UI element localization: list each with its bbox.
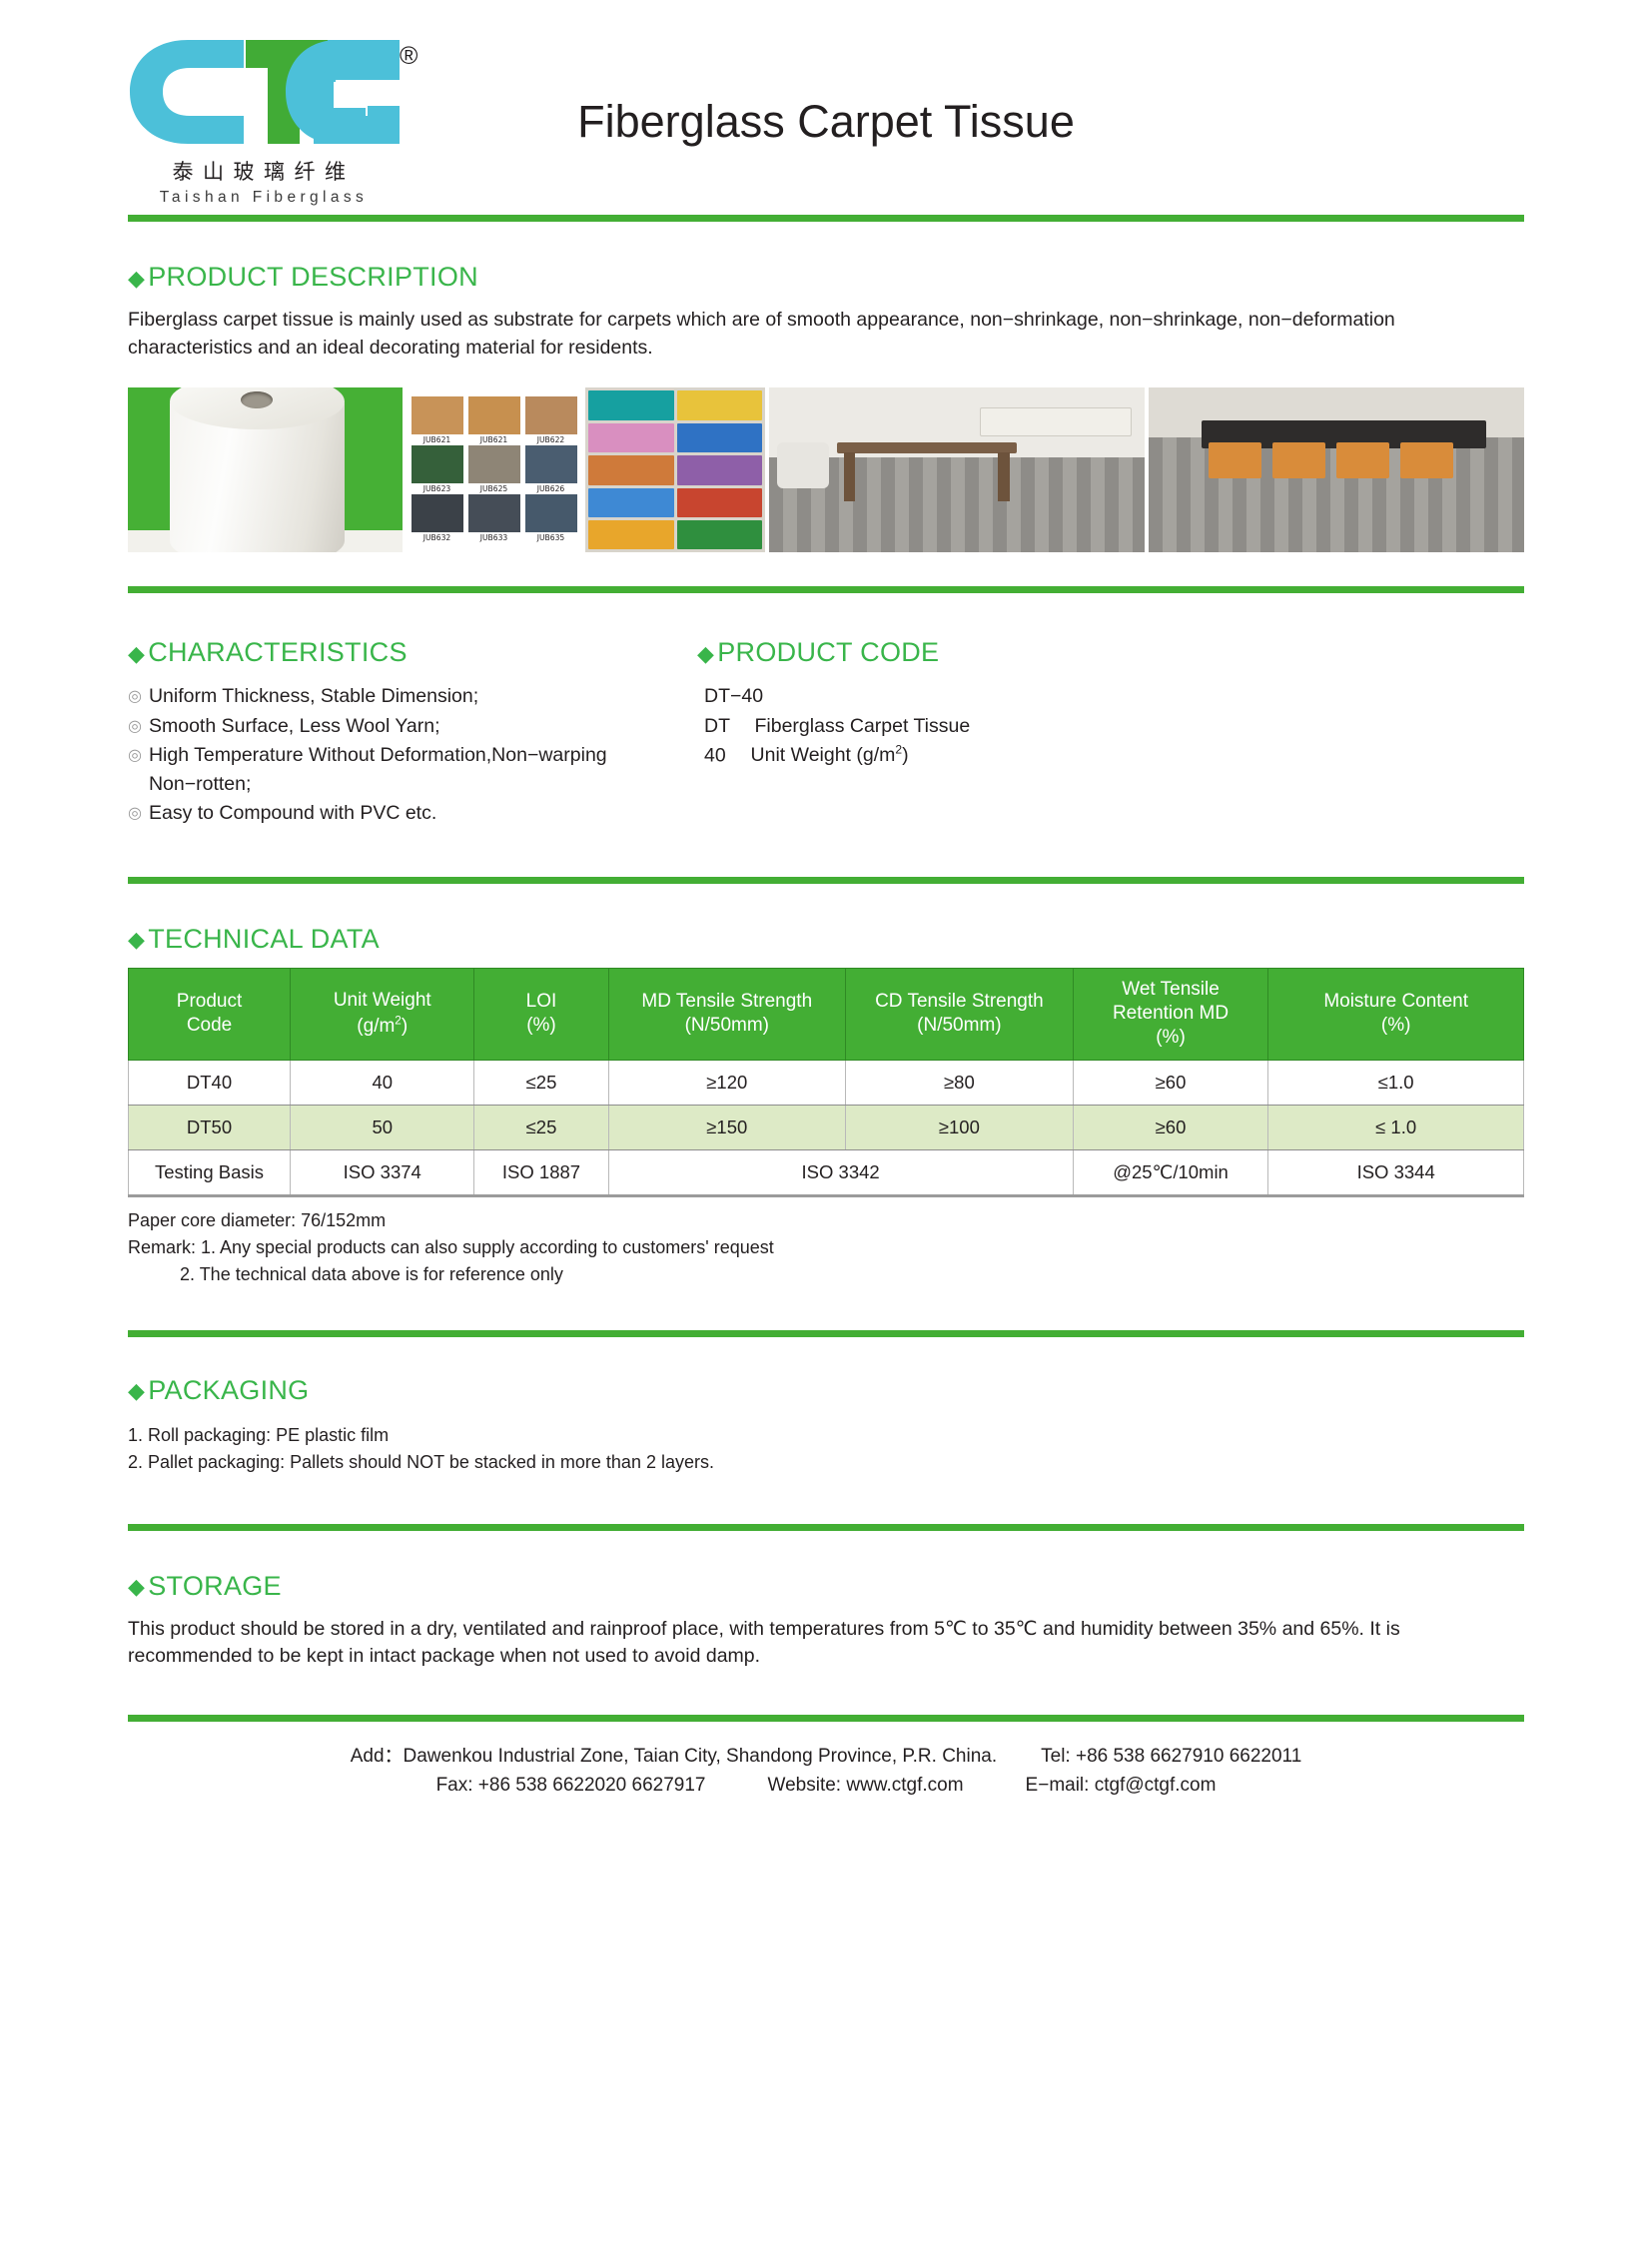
characteristics-column: ◆ CHARACTERISTICS ◎ Uniform Thickness, S…	[128, 637, 697, 828]
divider-packaging	[128, 1524, 1524, 1531]
tile-grid	[585, 387, 765, 552]
swatch-color	[412, 494, 463, 532]
company-name-cn: 泰山玻璃纤维	[128, 156, 400, 186]
website-link[interactable]: Website: www.ctgf.com	[768, 1771, 964, 1800]
characteristic-item: ◎ Smooth Surface, Less Wool Yarn;	[128, 712, 697, 741]
packaging-list: 1. Roll packaging: PE plastic film 2. Pa…	[128, 1422, 1524, 1476]
col-md-tensile: MD Tensile Strength (N/50mm)	[608, 968, 845, 1060]
divider-description	[128, 586, 1524, 593]
swatch-color	[468, 445, 520, 483]
swatch-cell: JUB635	[525, 494, 577, 543]
col-cd-tensile: CD Tensile Strength (N/50mm)	[846, 968, 1074, 1060]
cell-product-code: DT40	[129, 1060, 291, 1105]
chair	[1209, 442, 1261, 478]
section-title-text: CHARACTERISTICS	[148, 637, 408, 668]
datasheet-page: ® 泰山玻璃纤维 Taishan Fiberglass Fiberglass C…	[0, 0, 1652, 2242]
page-header: ® 泰山玻璃纤维 Taishan Fiberglass Fiberglass C…	[128, 0, 1524, 215]
photo-interior-conference	[1149, 387, 1524, 552]
swatch-cell: JUB632	[412, 494, 463, 543]
cell-md-tensile: ≥150	[608, 1105, 845, 1149]
product-code-value: DT−40	[697, 682, 1524, 711]
header-line2: (%)	[1381, 1015, 1411, 1036]
page-footer: Add：Dawenkou Industrial Zone, Taian City…	[128, 1742, 1524, 1801]
header-line2: (N/50mm)	[917, 1015, 1001, 1036]
section-heading-product-code: ◆ PRODUCT CODE	[697, 637, 1524, 668]
section-heading-packaging: ◆ PACKAGING	[128, 1375, 1524, 1406]
page-title: Fiberglass Carpet Tissue	[128, 96, 1524, 148]
cell-cd-tensile: ≥100	[846, 1105, 1074, 1149]
diamond-bullet-icon: ◆	[697, 643, 714, 665]
email-link[interactable]: E−mail: ctgf@ctgf.com	[1026, 1771, 1217, 1800]
divider-characteristics	[128, 877, 1524, 884]
ring-bullet-icon: ◎	[128, 741, 142, 800]
technical-data-table: Product Code Unit Weight (g/m2) LOI (%) …	[128, 968, 1524, 1197]
swatch-code: JUB621	[468, 434, 520, 445]
swatch-color	[525, 494, 577, 532]
cell-basis-wet-tensile: @25℃/10min	[1073, 1149, 1268, 1195]
characteristic-text: Uniform Thickness, Stable Dimension;	[149, 682, 478, 711]
swatch-cell: JUB622	[525, 396, 577, 445]
col-product-code: Product Code	[129, 968, 291, 1060]
legend-desc: Unit Weight (g/m2)	[751, 744, 909, 766]
swatch-cell: JUB633	[468, 494, 520, 543]
swatch-code: JUB635	[525, 532, 577, 543]
cell-loi: ≤25	[474, 1105, 608, 1149]
chair	[1272, 442, 1325, 478]
legend-key: DT	[704, 715, 730, 737]
chair	[1336, 442, 1389, 478]
table-row: DT40 40 ≤25 ≥120 ≥80 ≥60 ≤1.0	[129, 1060, 1524, 1105]
cell-product-code: DT50	[129, 1105, 291, 1149]
header-line1: CD Tensile Strength	[875, 991, 1044, 1012]
header-line2: Code	[187, 1015, 232, 1036]
table-row: DT50 50 ≤25 ≥150 ≥100 ≥60 ≤ 1.0	[129, 1105, 1524, 1149]
characteristics-productcode-row: ◆ CHARACTERISTICS ◎ Uniform Thickness, S…	[128, 637, 1524, 828]
legend-desc: Fiberglass Carpet Tissue	[755, 715, 971, 737]
diamond-bullet-icon: ◆	[128, 1380, 145, 1402]
col-moisture: Moisture Content (%)	[1268, 968, 1524, 1060]
swatch-cell: JUB625	[468, 445, 520, 494]
section-title-text: STORAGE	[148, 1571, 282, 1602]
swatch-code: JUB625	[468, 483, 520, 494]
cell-basis-loi: ISO 1887	[474, 1149, 608, 1195]
description-body: Fiberglass carpet tissue is mainly used …	[128, 307, 1524, 362]
swatch-color	[412, 396, 463, 434]
product-code-legend-weight: 40 Unit Weight (g/m2)	[697, 741, 1524, 771]
header-line2: Retention MD	[1113, 1003, 1229, 1024]
section-heading-description: ◆ PRODUCT DESCRIPTION	[128, 262, 1524, 293]
swatch-color	[412, 445, 463, 483]
characteristic-item: ◎ Uniform Thickness, Stable Dimension;	[128, 682, 697, 711]
swatch-color	[468, 396, 520, 434]
section-heading-storage: ◆ STORAGE	[128, 1571, 1524, 1602]
table-row-testing-basis: Testing Basis ISO 3374 ISO 1887 ISO 3342…	[129, 1149, 1524, 1195]
cell-moisture: ≤1.0	[1268, 1060, 1524, 1105]
cell-cd-tensile: ≥80	[846, 1060, 1074, 1105]
header-line1: Product	[177, 991, 242, 1012]
swatch-cell: JUB623	[412, 445, 463, 494]
cell-moisture: ≤ 1.0	[1268, 1105, 1524, 1149]
cell-loi: ≤25	[474, 1060, 608, 1105]
ring-bullet-icon: ◎	[128, 799, 142, 828]
swatch-cell: JUB621	[468, 396, 520, 445]
characteristic-text: Easy to Compound with PVC etc.	[149, 799, 436, 828]
product-code-legend-dt: DT Fiberglass Carpet Tissue	[697, 712, 1524, 741]
photo-interior-desk	[769, 387, 1145, 552]
col-unit-weight: Unit Weight (g/m2)	[291, 968, 474, 1060]
cell-basis-unit-weight: ISO 3374	[291, 1149, 474, 1195]
chair	[777, 442, 830, 488]
swatch-code: JUB633	[468, 532, 520, 543]
cell-unit-weight: 50	[291, 1105, 474, 1149]
swatch-code: JUB632	[412, 532, 463, 543]
cell-md-tensile: ≥120	[608, 1060, 845, 1105]
section-title-text: TECHNICAL DATA	[148, 924, 380, 955]
header-line1: LOI	[526, 991, 557, 1012]
wall-cabinet	[980, 407, 1132, 435]
photo-colored-carpet-tiles	[585, 387, 765, 552]
address-label: Add：	[351, 1742, 404, 1771]
divider-technical	[128, 1330, 1524, 1337]
cell-basis-tensile: ISO 3342	[608, 1149, 1073, 1195]
diamond-bullet-icon: ◆	[128, 268, 145, 290]
header-line3: (%)	[1156, 1027, 1186, 1048]
fax: Fax: +86 538 6622020 6627917	[436, 1771, 706, 1800]
ring-bullet-icon: ◎	[128, 712, 142, 741]
header-line1: MD Tensile Strength	[641, 991, 812, 1012]
cell-wet-tensile: ≥60	[1073, 1105, 1268, 1149]
diamond-bullet-icon: ◆	[128, 1576, 145, 1598]
section-heading-characteristics: ◆ CHARACTERISTICS	[128, 637, 697, 668]
swatch-row: JUB623 JUB625 JUB626	[407, 445, 581, 494]
characteristic-item: ◎ High Temperature Without Deformation,N…	[128, 741, 697, 800]
swatch-row: JUB632 JUB633 JUB635	[407, 494, 581, 543]
chair	[1400, 442, 1453, 478]
telephone: Tel: +86 538 6627910 6622011	[1041, 1742, 1301, 1771]
cell-testing-basis-label: Testing Basis	[129, 1149, 291, 1195]
footer-line-2: Fax: +86 538 6622020 6627917Website: www…	[128, 1771, 1524, 1800]
header-line2: (%)	[526, 1015, 556, 1036]
swatch-code: JUB621	[412, 434, 463, 445]
packaging-item: 2. Pallet packaging: Pallets should NOT …	[128, 1449, 1524, 1476]
characteristic-text: High Temperature Without Deformation,Non…	[149, 741, 697, 800]
col-wet-tensile: Wet Tensile Retention MD (%)	[1073, 968, 1268, 1060]
divider-storage	[128, 1715, 1524, 1722]
swatch-row: JUB621 JUB621 JUB622	[407, 396, 581, 445]
divider-header	[128, 215, 1524, 222]
cell-wet-tensile: ≥60	[1073, 1060, 1268, 1105]
photo-tissue-roll	[128, 387, 403, 552]
swatch-cell: JUB626	[525, 445, 577, 494]
col-loi: LOI (%)	[474, 968, 608, 1060]
section-title-text: PRODUCT CODE	[717, 637, 939, 668]
company-name-en: Taishan Fiberglass	[128, 189, 400, 207]
swatch-color	[525, 445, 577, 483]
desk-top	[837, 442, 1017, 454]
swatch-color	[525, 396, 577, 434]
address-value: Dawenkou Industrial Zone, Taian City, Sh…	[404, 1742, 998, 1771]
header-line2: (g/m2)	[357, 1016, 408, 1037]
productcode-column: ◆ PRODUCT CODE DT−40 DT Fiberglass Carpe…	[697, 637, 1524, 828]
desk-leg	[998, 452, 1009, 502]
note-remark-1: Remark: 1. Any special products can also…	[128, 1234, 1524, 1261]
header-line1: Moisture Content	[1323, 991, 1468, 1012]
cell-basis-moisture: ISO 3344	[1268, 1149, 1524, 1195]
note-core-diameter: Paper core diameter: 76/152mm	[128, 1207, 1524, 1234]
swatch-code: JUB622	[525, 434, 577, 445]
photo-carpet-swatches: JUB621 JUB621 JUB622 JUB623 JU	[407, 387, 581, 552]
storage-body: This product should be stored in a dry, …	[128, 1616, 1524, 1671]
desk-leg	[844, 452, 855, 502]
characteristic-text: Smooth Surface, Less Wool Yarn;	[149, 712, 440, 741]
technical-notes: Paper core diameter: 76/152mm Remark: 1.…	[128, 1207, 1524, 1288]
table-header-row: Product Code Unit Weight (g/m2) LOI (%) …	[129, 968, 1524, 1060]
ring-bullet-icon: ◎	[128, 682, 142, 711]
characteristic-item: ◎ Easy to Compound with PVC etc.	[128, 799, 697, 828]
swatch-code: JUB626	[525, 483, 577, 494]
swatch-cell: JUB621	[412, 396, 463, 445]
note-remark-2: 2. The technical data above is for refer…	[128, 1261, 1524, 1288]
legend-key: 40	[704, 744, 726, 766]
section-title-text: PRODUCT DESCRIPTION	[148, 262, 478, 293]
header-line2: (N/50mm)	[685, 1015, 769, 1036]
packaging-item: 1. Roll packaging: PE plastic film	[128, 1422, 1524, 1449]
cell-unit-weight: 40	[291, 1060, 474, 1105]
footer-line-1: Add：Dawenkou Industrial Zone, Taian City…	[128, 1742, 1524, 1771]
header-line1: Unit Weight	[334, 990, 431, 1011]
diamond-bullet-icon: ◆	[128, 929, 145, 951]
header-line1: Wet Tensile	[1122, 979, 1220, 1000]
diamond-bullet-icon: ◆	[128, 643, 145, 665]
registered-trademark-icon: ®	[400, 44, 417, 69]
swatch-code: JUB623	[412, 483, 463, 494]
product-image-strip: JUB621 JUB621 JUB622 JUB623 JU	[128, 387, 1524, 552]
section-title-text: PACKAGING	[148, 1375, 309, 1406]
section-heading-technical: ◆ TECHNICAL DATA	[128, 924, 1524, 955]
swatch-color	[468, 494, 520, 532]
